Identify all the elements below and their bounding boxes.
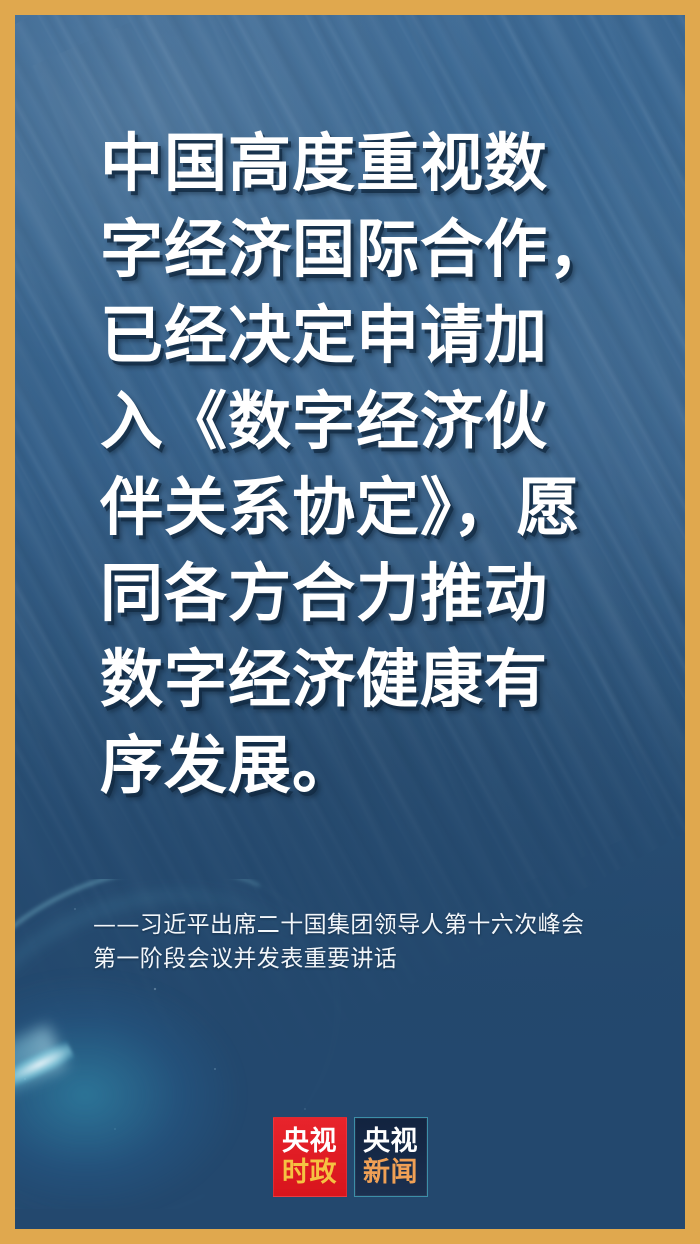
headline-line: 序发展。	[100, 723, 660, 809]
logo-top-text: 央视	[282, 1126, 337, 1157]
headline-line: 字经济国际合作，	[100, 207, 660, 293]
headline-line: 同各方合力推动	[100, 551, 660, 637]
attribution-line: ——习近平出席二十国集团领导人第十六次峰会	[93, 908, 653, 942]
poster-card: 中国高度重视数 字经济国际合作， 已经决定申请加 入《数字经济伙 伴关系协定》，…	[0, 0, 700, 1244]
headline-line: 伴关系协定》，愿	[100, 465, 660, 551]
logo-bottom-text: 时政	[282, 1157, 337, 1188]
logo-top-text: 央视	[363, 1126, 418, 1157]
poster-canvas: 中国高度重视数 字经济国际合作， 已经决定申请加 入《数字经济伙 伴关系协定》，…	[15, 15, 685, 1229]
attribution-line: 第一阶段会议并发表重要讲话	[93, 942, 653, 976]
headline-line: 已经决定申请加	[100, 293, 660, 379]
logo-cctv-shizheng[interactable]: 央视 时政	[273, 1117, 347, 1197]
attribution-block: ——习近平出席二十国集团领导人第十六次峰会 第一阶段会议并发表重要讲话	[93, 908, 653, 976]
headline-line: 中国高度重视数	[100, 121, 660, 207]
logo-row: 央视 时政 央视 新闻	[15, 1117, 685, 1197]
headline-line: 数字经济健康有	[100, 637, 660, 723]
logo-bottom-text: 新闻	[363, 1157, 418, 1188]
headline-block: 中国高度重视数 字经济国际合作， 已经决定申请加 入《数字经济伙 伴关系协定》，…	[100, 121, 660, 809]
logo-cctv-xinwen[interactable]: 央视 新闻	[354, 1117, 428, 1197]
headline-line: 入《数字经济伙	[100, 379, 660, 465]
